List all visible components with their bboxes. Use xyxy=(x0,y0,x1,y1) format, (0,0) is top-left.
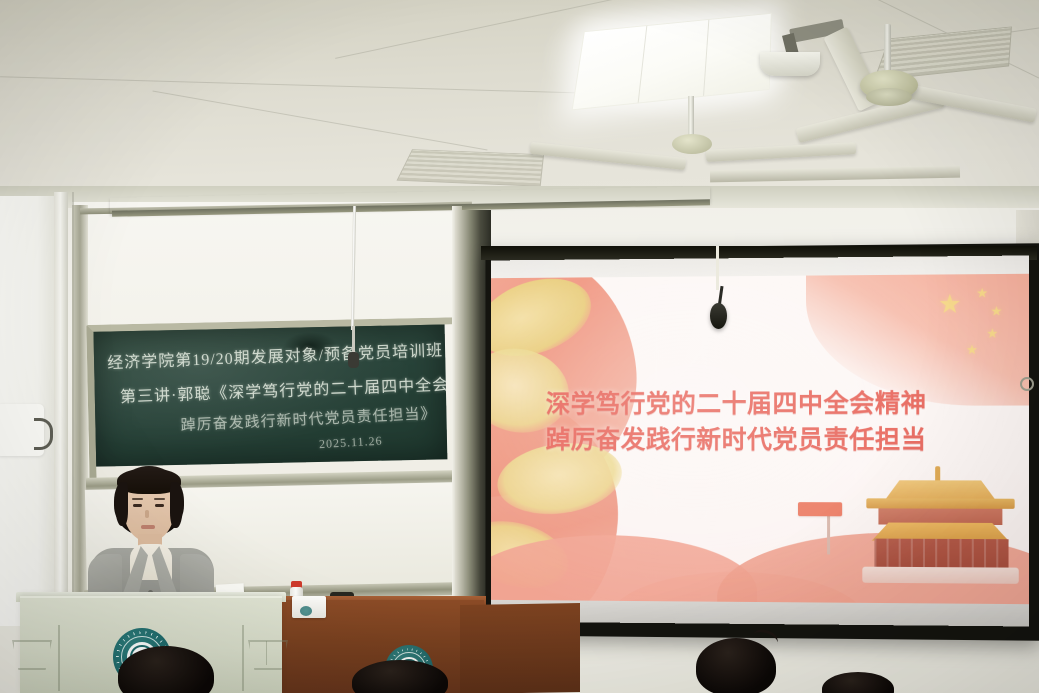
blackboard-date: 2025.11.26 xyxy=(319,434,383,453)
blackboard-line-3: 踔厉奋发践行新时代党员责任担当》 xyxy=(180,402,437,435)
screen-hook-icon xyxy=(1020,377,1034,391)
slide-title-line-1: 深学笃行党的二十届四中全会精神 xyxy=(546,389,927,419)
slide-title-line-2: 踔厉奋发践行新时代党员责任担当 xyxy=(546,421,1016,457)
wall-seam xyxy=(72,192,74,628)
flag-star-icon: ★ xyxy=(990,304,1002,317)
ceiling-seam xyxy=(152,90,487,150)
blackboard: 经济学院第19/20期发展对象/预备党员培训班 第三讲·郭聪《深学笃行党的二十届… xyxy=(93,323,448,466)
podium-side-motif xyxy=(12,640,52,670)
classroom-photo-scene: 经济学院第19/20期发展对象/预备党员培训班 第三讲·郭聪《深学笃行党的二十届… xyxy=(0,0,1039,693)
podium-side-motif xyxy=(248,640,288,670)
flag-star-icon: ★ xyxy=(966,343,978,356)
presentation-slide: ★ ★ ★ ★ ★ 深学笃行党的二十届四中全会精神 踔厉奋 xyxy=(491,274,1029,608)
tissue-box-logo xyxy=(300,606,312,616)
door-frame xyxy=(54,192,68,628)
flag-star-icon: ★ xyxy=(976,286,988,299)
flag-star-icon: ★ xyxy=(986,327,998,340)
podium-trim-line xyxy=(58,625,60,691)
projection-screen[interactable]: ★ ★ ★ ★ ★ 深学笃行党的二十届四中全会精神 踔厉奋 xyxy=(491,256,1029,627)
blackboard-line-1: 经济学院第19/20期发展对象/预备党员培训班 xyxy=(107,336,444,373)
flag-star-icon: ★ xyxy=(938,290,962,316)
flag-pole xyxy=(827,514,830,554)
projector-icon xyxy=(760,52,820,76)
red-banner-shape xyxy=(798,502,842,516)
microphone-icon xyxy=(348,352,359,368)
podium-trim-line xyxy=(242,625,244,691)
blackboard-line-2: 第三讲·郭聪《深学笃行党的二十届四中全会精神 xyxy=(120,369,448,407)
ceiling-fan-hub xyxy=(866,88,912,106)
microphone-cable xyxy=(716,246,719,290)
ceiling-fan-icon xyxy=(672,134,712,154)
ventilation-grille-icon xyxy=(396,149,544,186)
tiananmen-gate-illustration xyxy=(856,462,1019,584)
teacher-desk-side xyxy=(460,603,580,693)
hanging-microphone-icon xyxy=(710,303,727,329)
microphone-cable xyxy=(352,326,355,354)
slide-title: 深学笃行党的二十届四中全会精神 踔厉奋发践行新时代党员责任担当 xyxy=(546,385,1016,457)
podium-side-motif-divider xyxy=(266,641,267,665)
speaker-person xyxy=(88,466,214,606)
